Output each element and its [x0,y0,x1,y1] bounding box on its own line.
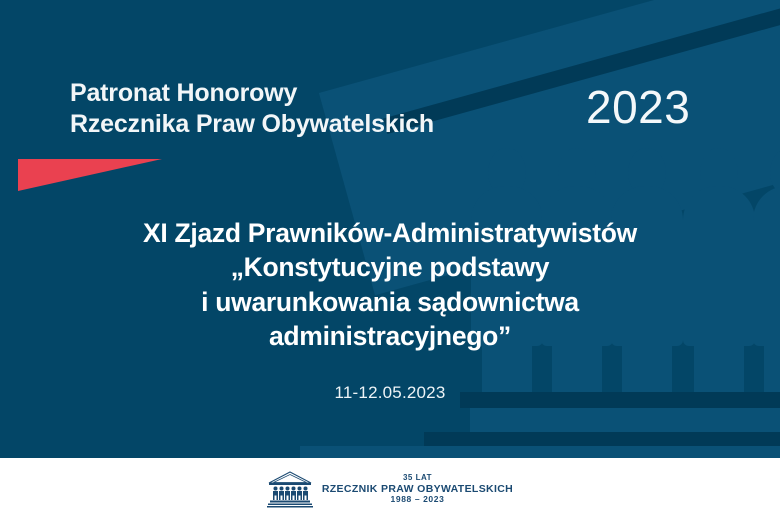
rpo-logo-name: RZECZNIK PRAW OBYWATELSKICH [322,483,513,495]
event-title-line-2: „Konstytucyjne podstawy [0,250,780,284]
poster-canvas: Patronat Honorowy Rzecznika Praw Obywate… [0,0,780,458]
rpo-logo-years: 1988 – 2023 [391,495,445,505]
patronage-line-1: Patronat Honorowy [70,78,434,109]
red-triangle-accent [18,159,162,191]
event-poster: Patronat Honorowy Rzecznika Praw Obywate… [0,0,780,520]
event-title-line-4: administracyjnego” [0,319,780,353]
patronage-text: Patronat Honorowy Rzecznika Praw Obywate… [70,78,434,140]
event-dates: 11-12.05.2023 [0,383,780,403]
platform-band-dark [424,432,780,446]
rpo-logo-text: 35 LAT RZECZNIK PRAW OBYWATELSKICH 1988 … [322,473,513,504]
footer-bar: 35 LAT RZECZNIK PRAW OBYWATELSKICH 1988 … [0,458,780,520]
event-title: XI Zjazd Prawników-Administratywistów „K… [0,216,780,354]
event-title-line-1: XI Zjazd Prawników-Administratywistów [0,216,780,250]
event-title-line-3: i uwarunkowania sądownictwa [0,285,780,319]
rpo-logo-anniversary: 35 LAT [403,473,432,482]
rpo-logo: 35 LAT RZECZNIK PRAW OBYWATELSKICH 1988 … [267,470,513,508]
patronage-line-2: Rzecznika Praw Obywatelskich [70,109,434,140]
rpo-temple-emblem-icon [267,470,313,508]
year-label: 2023 [586,80,690,134]
platform-band-light [300,446,780,458]
platform-band-light [470,408,780,432]
